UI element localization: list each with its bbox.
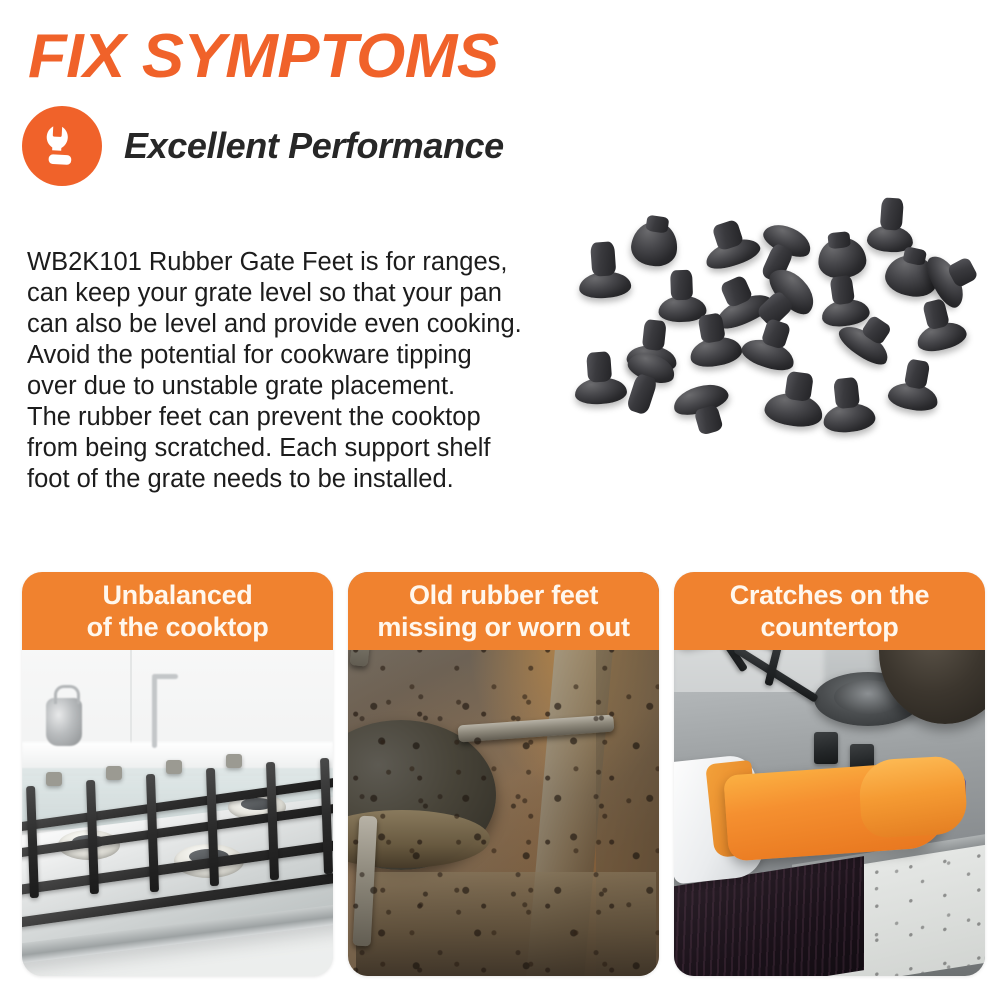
page-title: FIX SYMPTOMS bbox=[28, 22, 499, 92]
description-line: Avoid the potential for cookware tipping bbox=[27, 340, 572, 371]
description-line: over due to unstable grate placement. bbox=[27, 371, 572, 402]
rubber-foot bbox=[629, 213, 682, 269]
rubber-foot bbox=[670, 379, 738, 442]
panel-caption-line: Unbalanced bbox=[102, 579, 252, 611]
badge-row: Excellent Performance bbox=[22, 106, 504, 186]
description-line: foot of the grate needs to be installed. bbox=[27, 464, 572, 495]
symptom-panels: Unbalanced of the cooktop bbox=[22, 572, 985, 976]
description-line: WB2K101 Rubber Gate Feet is for ranges, bbox=[27, 247, 572, 278]
wrench-icon bbox=[22, 106, 102, 186]
panel-caption: Old rubber feet missing or worn out bbox=[348, 572, 659, 650]
infographic-page: FIX SYMPTOMS Excellent Performance WB2K1… bbox=[0, 0, 1000, 1000]
panel-caption-line: Cratches on the bbox=[730, 579, 930, 611]
rubber-foot bbox=[886, 356, 944, 416]
page-subtitle: Excellent Performance bbox=[124, 125, 504, 167]
rubber-foot bbox=[684, 310, 745, 372]
panel-caption-line: Old rubber feet bbox=[409, 579, 598, 611]
rubber-foot bbox=[576, 240, 632, 299]
panel-caption-line: missing or worn out bbox=[377, 611, 629, 643]
symptom-panel-countertop-scratches: Cratches on the countertop bbox=[674, 572, 985, 976]
symptom-panel-unbalanced-cooktop: Unbalanced of the cooktop bbox=[22, 572, 333, 976]
description-line: can keep your grate level so that your p… bbox=[27, 278, 572, 309]
rubber-foot bbox=[819, 375, 877, 436]
rubber-foot bbox=[762, 368, 828, 434]
product-photo-rubber-feet bbox=[560, 196, 992, 496]
description-paragraph: WB2K101 Rubber Gate Feet is for ranges, … bbox=[27, 247, 572, 495]
description-line: from being scratched. Each support shelf bbox=[27, 433, 572, 464]
panel-caption: Cratches on the countertop bbox=[674, 572, 985, 650]
panel-caption: Unbalanced of the cooktop bbox=[22, 572, 333, 650]
description-line: can also be level and provide even cooki… bbox=[27, 309, 572, 340]
description-line: The rubber feet can prevent the cooktop bbox=[27, 402, 572, 433]
symptom-panel-worn-rubber-feet: Old rubber feet missing or worn out bbox=[348, 572, 659, 976]
panel-caption-line: of the cooktop bbox=[87, 611, 269, 643]
panel-caption-line: countertop bbox=[761, 611, 899, 643]
